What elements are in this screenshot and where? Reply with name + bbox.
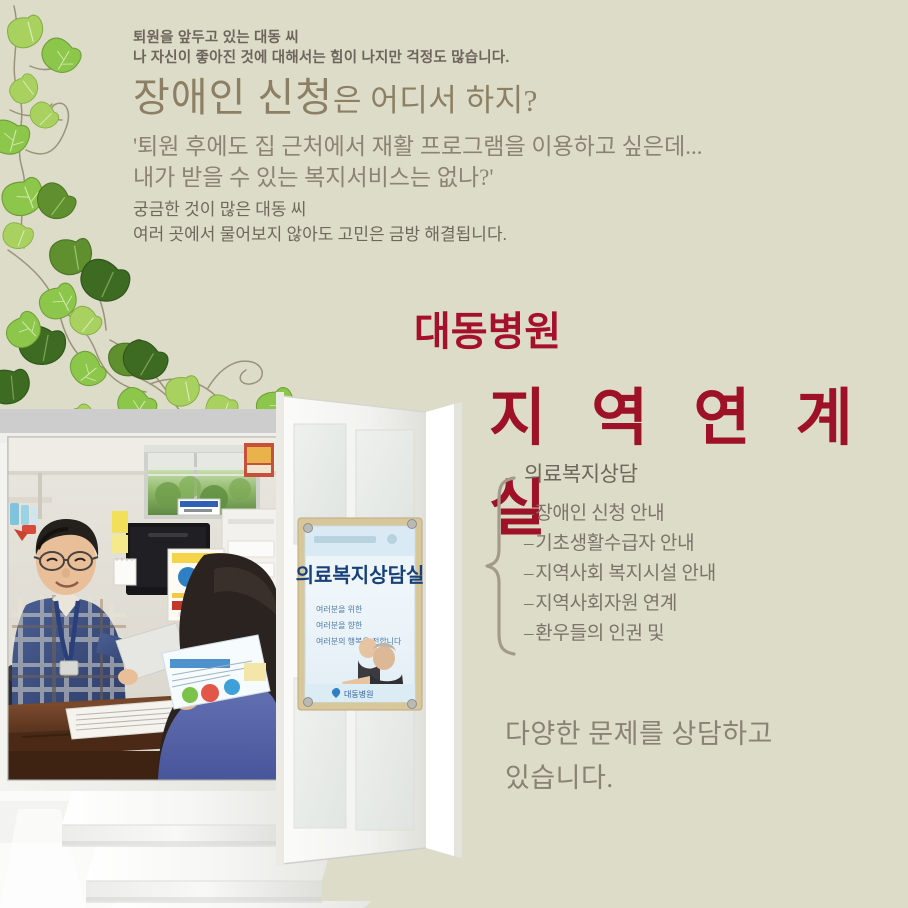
poster-canvas: 퇴원을 앞두고 있는 대동 씨 나 자신이 좋아진 것에 대해서는 힘이 나지만… xyxy=(0,0,908,908)
service-item: –기초생활수급자 안내 xyxy=(524,529,886,559)
service-list-block: 의료복지상담 –장애인 신청 안내 –기초생활수급자 안내 –지역사회 복지시설… xyxy=(486,458,886,649)
service-item-label: 지역사회 복지시설 안내 xyxy=(535,563,716,584)
service-item-label: 기초생활수급자 안내 xyxy=(535,533,694,554)
dash-bullet: – xyxy=(524,503,533,524)
intro-text-block: 퇴원을 앞두고 있는 대동 씨 나 자신이 좋아진 것에 대해서는 힘이 나지만… xyxy=(133,28,693,247)
service-list-heading: 의료복지상담 xyxy=(524,458,886,488)
service-item-label: 지역사회자원 연계 xyxy=(535,593,677,614)
dash-bullet: – xyxy=(524,533,533,554)
headline-tail: 은 어디서 하지? xyxy=(333,83,538,118)
door-sign-line: 여러분을 위한 xyxy=(316,604,363,614)
curly-brace-icon xyxy=(484,475,518,657)
service-item-label: 장애인 신청 안내 xyxy=(535,503,664,524)
headline-emphasis: 장애인 신청 xyxy=(133,75,333,120)
intro-closing: 궁금한 것이 많은 대동 씨 여러 곳에서 물어보지 않아도 고민은 금방 해결… xyxy=(133,197,693,247)
intro-kicker: 퇴원을 앞두고 있는 대동 씨 나 자신이 좋아진 것에 대해서는 힘이 나지만… xyxy=(133,28,693,68)
service-item: –지역사회자원 연계 xyxy=(524,589,886,619)
dash-bullet: – xyxy=(524,593,533,614)
service-item: –지역사회 복지시설 안내 xyxy=(524,559,886,589)
dash-bullet: – xyxy=(524,563,533,584)
service-closing-text: 다양한 문제를 상담하고 있습니다. xyxy=(505,712,773,800)
consultation-photo xyxy=(8,437,280,780)
service-list-body: –장애인 신청 안내 –기초생활수급자 안내 –지역사회 복지시설 안내 –지역… xyxy=(486,499,886,649)
door-sign-title: 의료복지상담실 xyxy=(296,564,425,587)
service-item: –환우들의 인권 및 xyxy=(524,619,886,649)
intro-headline: 장애인 신청은 어디서 하지? xyxy=(133,77,693,119)
service-item: –장애인 신청 안내 xyxy=(524,499,886,529)
door-with-sign: 의료복지상담실 여러분을 위한 여러분을 향한 여러분의 행복을 전합니다 대동… xyxy=(276,378,466,866)
intro-quote: '퇴원 후에도 집 근처에서 재활 프로그램을 이용하고 싶은데... 내가 받… xyxy=(133,131,693,193)
hospital-name: 대동병원 xyxy=(414,299,561,357)
service-item-label: 환우들의 인권 및 xyxy=(535,623,664,644)
dash-bullet: – xyxy=(524,623,533,644)
door-sign-logo: 대동병원 xyxy=(344,690,373,699)
door-sign-line: 여러분을 향한 xyxy=(316,620,363,630)
